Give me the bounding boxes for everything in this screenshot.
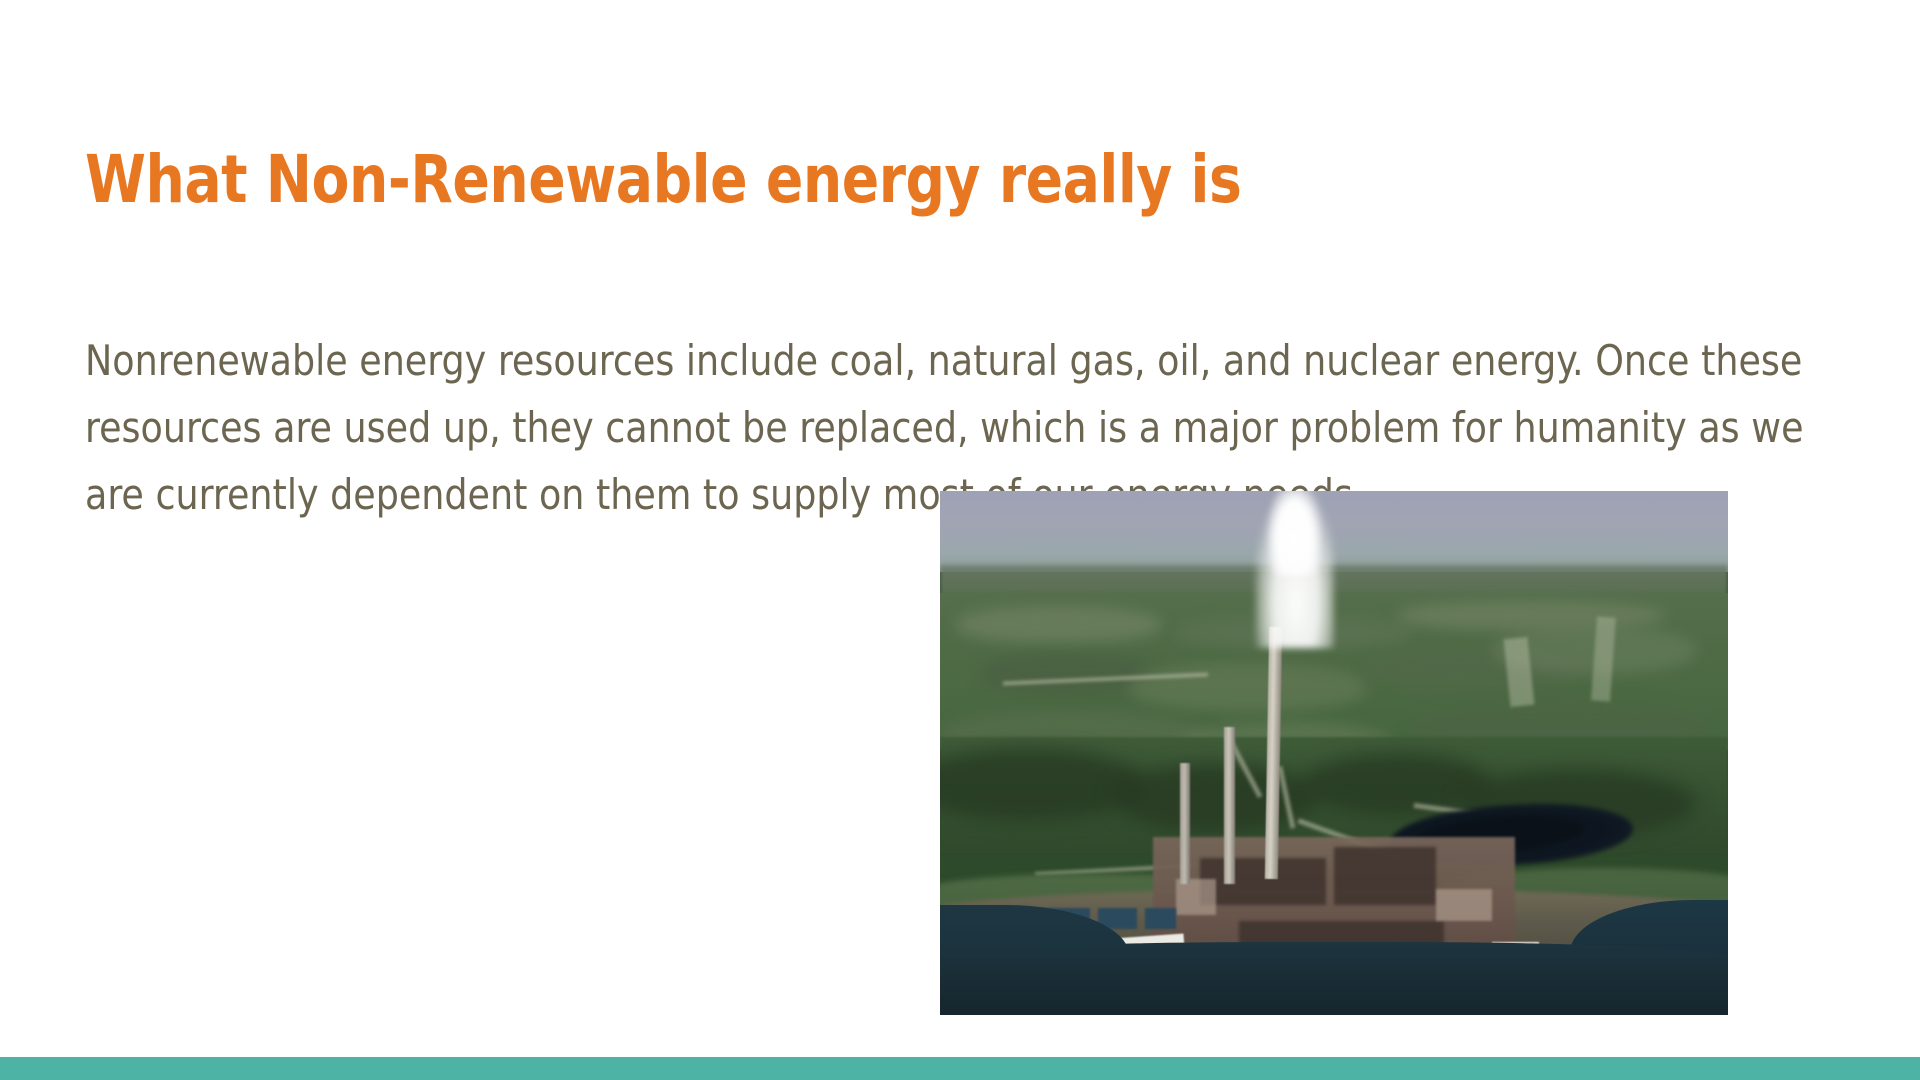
footer-accent-bar — [0, 1057, 1920, 1080]
photo-plant-structure — [1334, 847, 1436, 905]
aerial-photo-coal-power-plant — [940, 491, 1728, 1015]
photo-plant-structure — [1176, 879, 1215, 916]
photo-field-patch — [1129, 664, 1365, 711]
page-title: What Non-Renewable energy really is — [85, 142, 1666, 218]
photo-smoke-plume — [1267, 491, 1322, 575]
photo-field-patch — [1397, 601, 1665, 630]
photo-smokestack — [1180, 763, 1189, 884]
photo-plant-structure — [1436, 889, 1491, 920]
photo-field-patch — [979, 653, 1152, 695]
photo-settling-pond — [1145, 908, 1177, 929]
photo-field-patch — [956, 606, 1161, 643]
photo-plant-structure — [1200, 858, 1326, 905]
photo-water — [940, 942, 1728, 1015]
photo-sky — [940, 491, 1728, 572]
photo-smokestack — [1224, 727, 1236, 884]
slide: What Non-Renewable energy really is Nonr… — [0, 0, 1920, 1080]
